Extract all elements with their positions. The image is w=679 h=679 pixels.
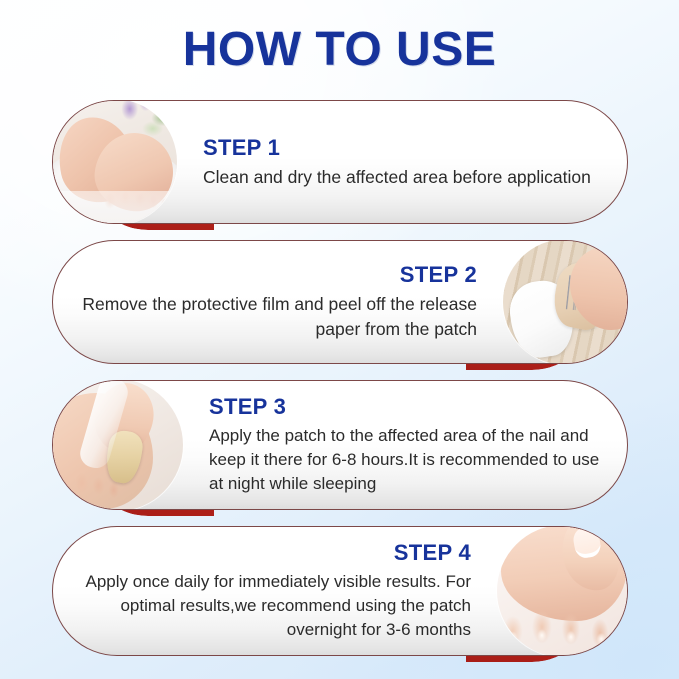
step-capsule: STEP 3 Apply the patch to the affected a… <box>52 380 628 510</box>
healthy-toenails-photo <box>497 526 628 656</box>
how-to-use-infographic: HOW TO USE STEP 1 Clean and dry the affe… <box>0 0 679 679</box>
step-label: STEP 1 <box>203 135 609 161</box>
step-description: Clean and dry the affected area before a… <box>203 165 609 190</box>
toenails-shape <box>497 625 628 651</box>
step-row-2: STEP 2 Remove the protective film and pe… <box>52 240 628 364</box>
patch-applied-to-toenail-photo <box>52 380 183 510</box>
feet-soaking-in-basin-photo <box>52 100 177 224</box>
step-label: STEP 3 <box>209 394 609 420</box>
step-description: Remove the protective film and peel off … <box>71 292 477 342</box>
step-row-4: STEP 4 Apply once daily for immediately … <box>52 526 628 656</box>
step-label: STEP 4 <box>71 540 471 566</box>
step-text-block: STEP 1 Clean and dry the affected area b… <box>177 135 627 190</box>
step-description: Apply once daily for immediately visible… <box>71 570 471 642</box>
page-title: HOW TO USE <box>0 22 679 77</box>
step-capsule: STEP 4 Apply once daily for immediately … <box>52 526 628 656</box>
step-label: STEP 2 <box>71 262 477 288</box>
water-surface <box>52 191 177 224</box>
step-row-1: STEP 1 Clean and dry the affected area b… <box>52 100 628 224</box>
step-row-3: STEP 3 Apply the patch to the affected a… <box>52 380 628 510</box>
step-description: Apply the patch to the affected area of … <box>209 424 609 496</box>
step-text-block: STEP 4 Apply once daily for immediately … <box>53 540 497 642</box>
step-text-block: STEP 3 Apply the patch to the affected a… <box>183 394 627 496</box>
step-capsule: STEP 1 Clean and dry the affected area b… <box>52 100 628 224</box>
step-text-block: STEP 2 Remove the protective film and pe… <box>53 262 503 342</box>
step-capsule: STEP 2 Remove the protective film and pe… <box>52 240 628 364</box>
patch-on-wooden-table-photo <box>503 240 628 364</box>
